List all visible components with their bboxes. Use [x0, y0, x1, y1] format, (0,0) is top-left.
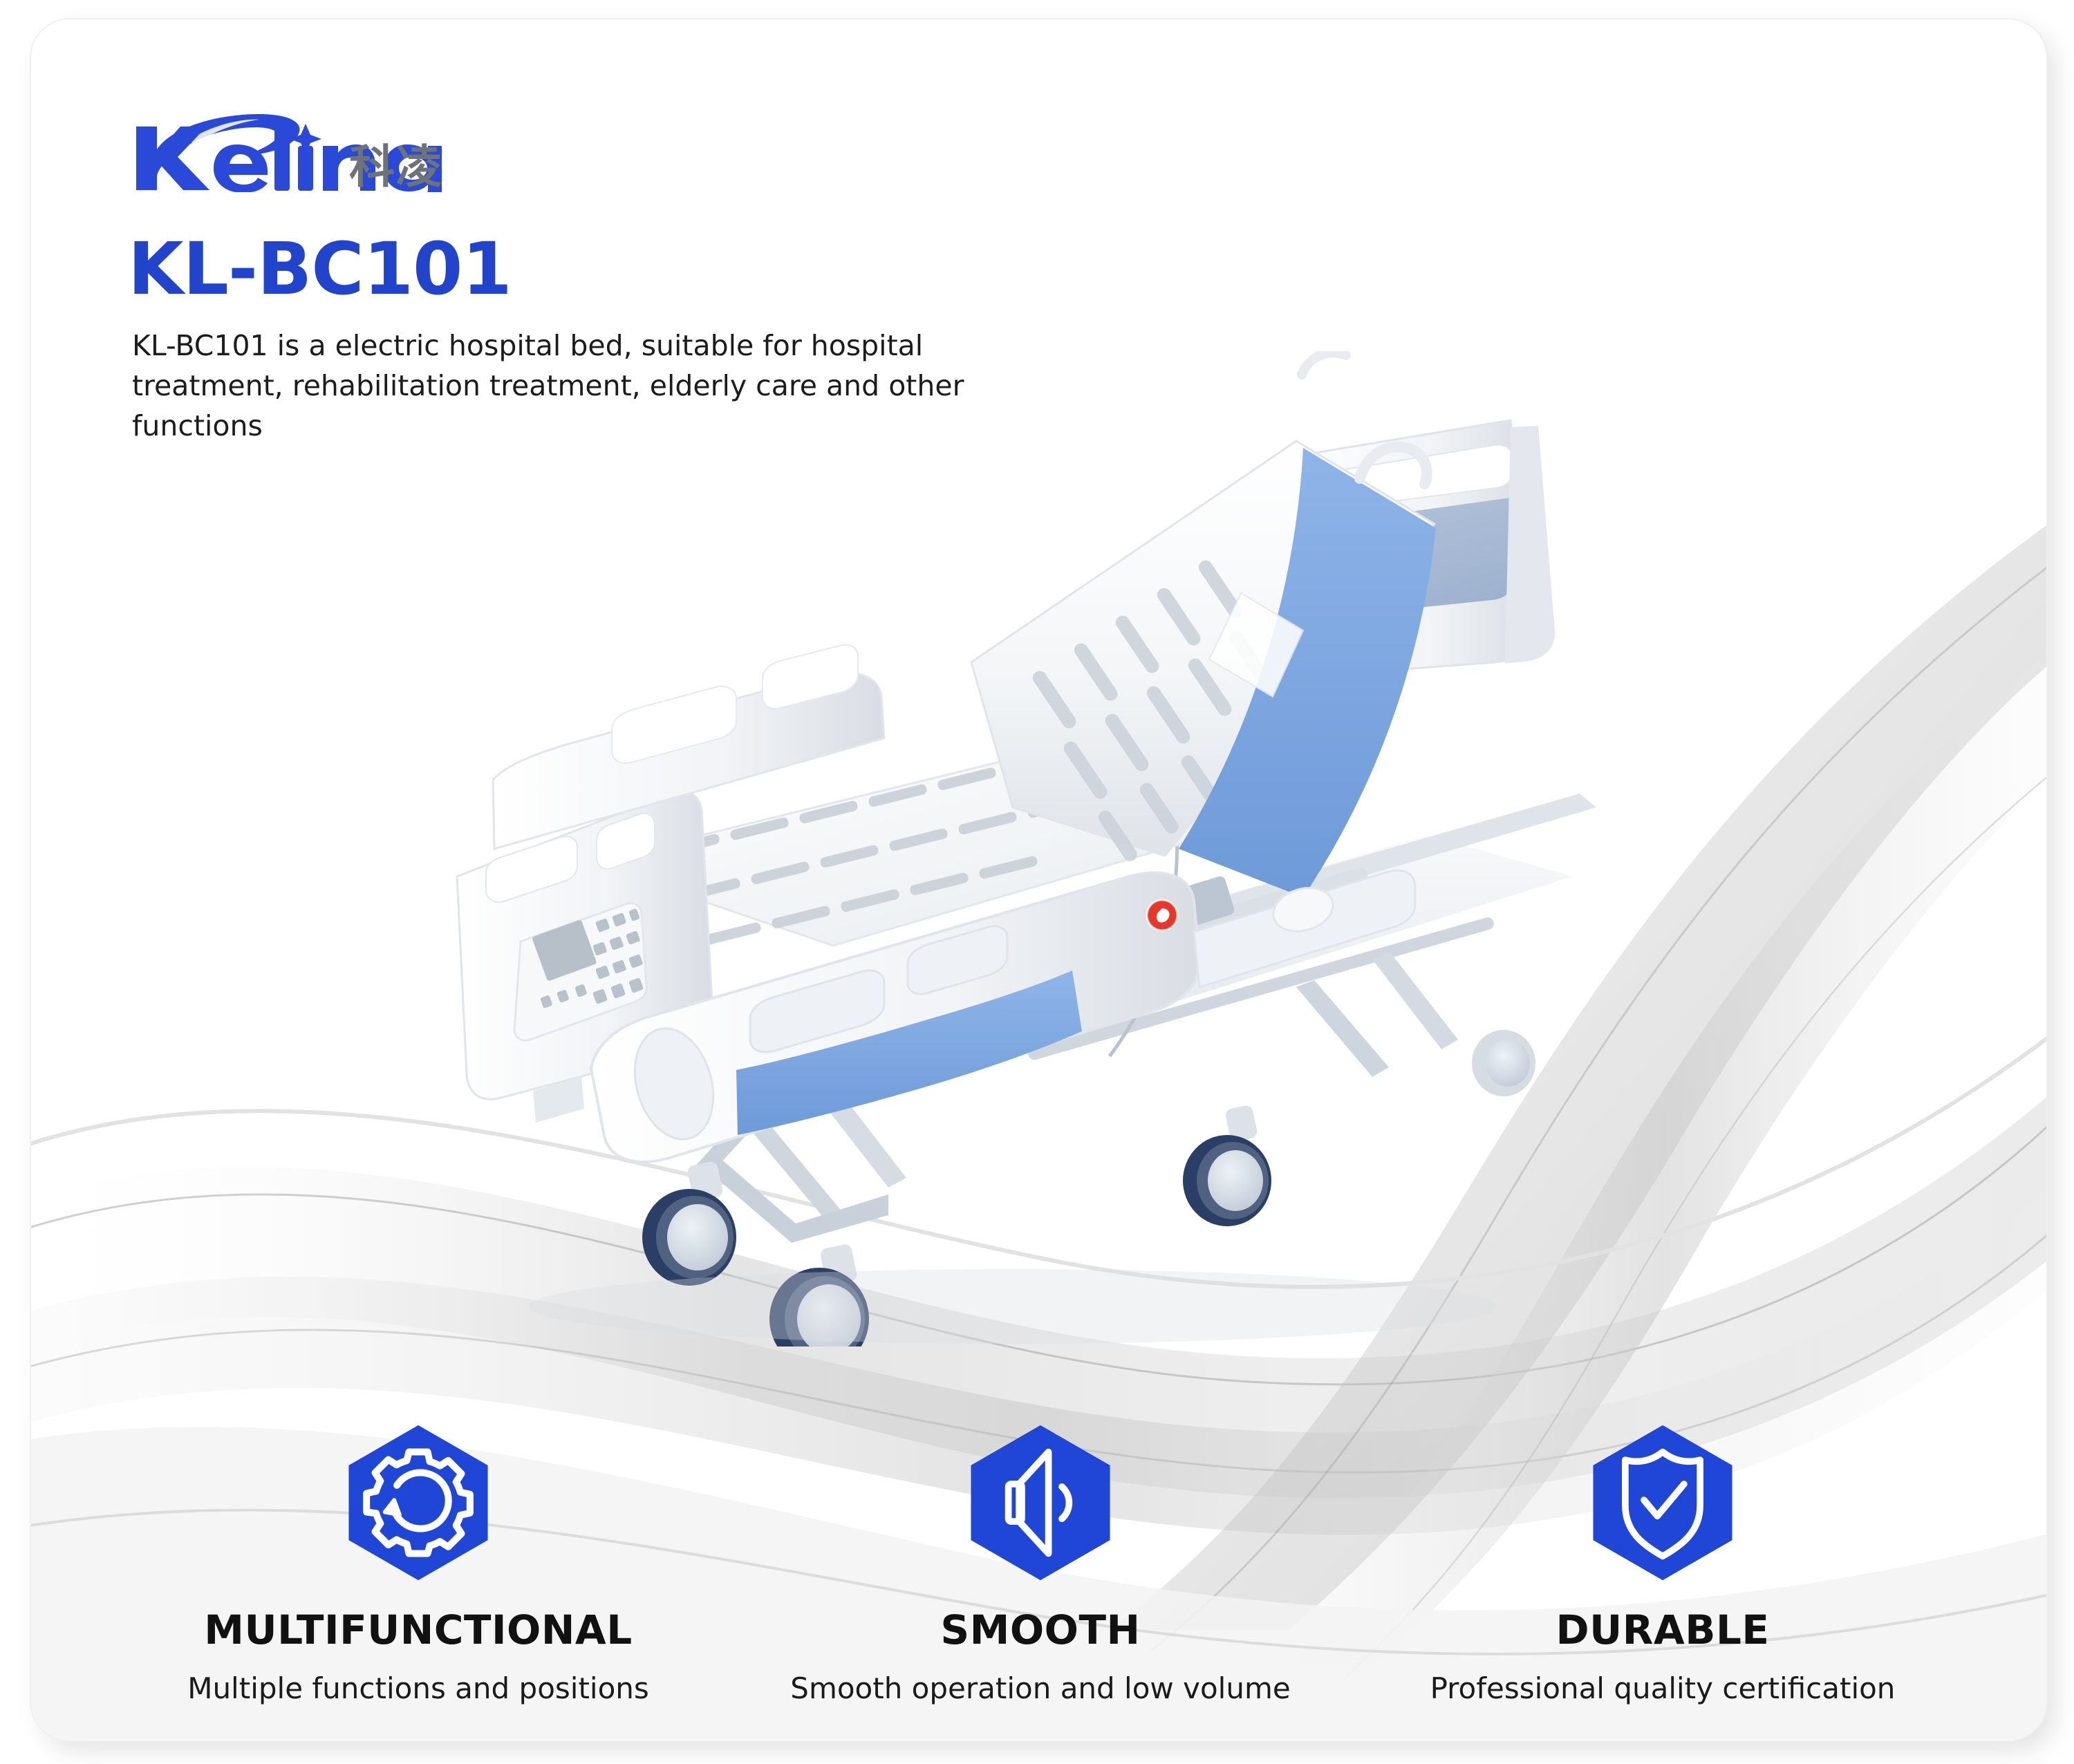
feature-subtitle: Professional quality certification — [1400, 1671, 1925, 1705]
shield-check-icon — [1580, 1423, 1745, 1583]
page-title: KL-BC101 — [128, 227, 512, 311]
hospital-bed-image — [404, 351, 1759, 1347]
feature-durable: DURABLE Professional quality certificati… — [1400, 1423, 1925, 1705]
feature-smooth: SMOOTH Smooth operation and low volume — [778, 1423, 1303, 1705]
feature-multifunctional: MULTIFUNCTIONAL Multiple functions and p… — [156, 1423, 681, 1705]
feature-title: MULTIFUNCTIONAL — [156, 1606, 681, 1653]
feature-subtitle: Smooth operation and low volume — [778, 1671, 1303, 1705]
brand-chinese-name: 科凌 — [349, 130, 443, 196]
feature-title: DURABLE — [1400, 1606, 1925, 1653]
product-page: 科凌 KL-BC101 KL-BC101 is a electric hospi… — [0, 0, 2074, 1764]
speaker-volume-icon — [958, 1423, 1123, 1583]
feature-subtitle: Multiple functions and positions — [156, 1671, 681, 1705]
caster-wheel-rear — [1183, 1105, 1271, 1226]
product-card: 科凌 KL-BC101 KL-BC101 is a electric hospi… — [31, 19, 2046, 1740]
emergency-release-button[interactable] — [1147, 900, 1177, 930]
gear-icon — [336, 1423, 501, 1583]
caster-wheel-far — [1472, 1030, 1535, 1096]
feature-row: MULTIFUNCTIONAL Multiple functions and p… — [107, 1423, 1974, 1713]
side-rail-front[interactable] — [591, 870, 1415, 1162]
feature-title: SMOOTH — [778, 1606, 1303, 1653]
